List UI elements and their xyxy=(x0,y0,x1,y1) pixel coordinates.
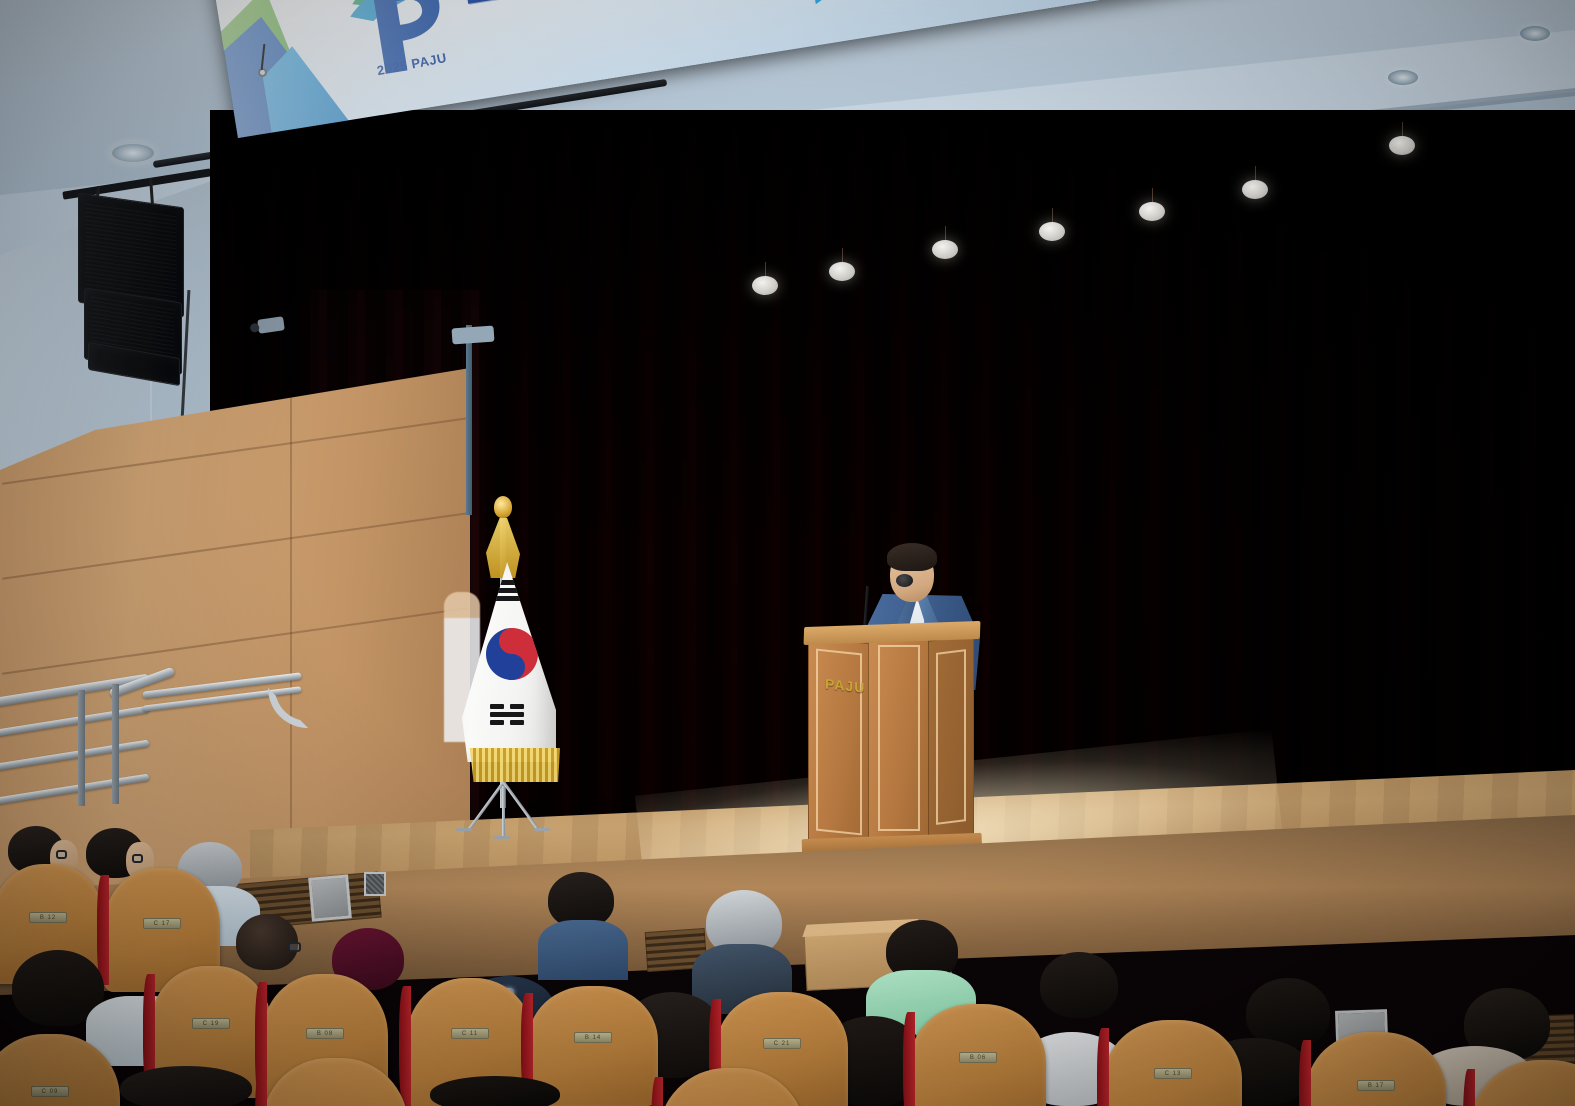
seat-number-plate: C 11 xyxy=(451,1028,489,1039)
downlight-rim xyxy=(110,142,156,164)
podium-inlay xyxy=(936,649,966,825)
audience-head xyxy=(120,1066,252,1106)
stage-lamp-icon xyxy=(829,262,855,281)
trigram-bar xyxy=(510,704,524,709)
seat-number-plate: C 21 xyxy=(763,1038,801,1049)
theater-seat[interactable]: B 17 xyxy=(1306,1032,1446,1106)
wall-seam xyxy=(2,607,468,674)
seat-number-plate: C 09 xyxy=(31,1086,69,1097)
audience-section: B 12 C 17 C 19 B 08 xyxy=(0,820,1575,1106)
seat-trim xyxy=(97,875,109,984)
seat-trim xyxy=(1299,1040,1311,1106)
microphone-head-icon xyxy=(896,574,913,587)
seat-trim xyxy=(1097,1028,1109,1106)
eyeglasses-icon xyxy=(288,942,301,952)
eyeglasses-icon xyxy=(132,854,143,863)
podium-inlay xyxy=(878,645,920,831)
seat-number-plate: B 14 xyxy=(574,1032,612,1043)
handrail-post xyxy=(112,684,119,804)
downlight-icon xyxy=(1520,26,1550,41)
theater-seat[interactable]: B 06 xyxy=(910,1004,1046,1106)
triangle-marker-left: ▶ xyxy=(812,0,833,6)
wall-seam xyxy=(2,512,468,579)
seat-number-plate: C 17 xyxy=(143,918,181,929)
seat-number-plate: B 06 xyxy=(959,1052,997,1063)
taeguk-symbol xyxy=(486,628,538,680)
theater-seat[interactable]: C 13 xyxy=(1104,1020,1242,1106)
flag-fringe xyxy=(464,748,560,782)
trigram-geon xyxy=(488,580,522,600)
seat-number-plate: C 13 xyxy=(1154,1068,1192,1079)
seat-trim xyxy=(255,1067,267,1106)
korean-flag-assembly xyxy=(438,500,568,840)
podium-right-face xyxy=(928,635,974,845)
trigram-bar xyxy=(488,596,522,601)
eyeglasses-icon xyxy=(56,850,67,859)
handrail-post xyxy=(78,690,85,806)
trigram-bar xyxy=(488,580,522,585)
trigram-bar xyxy=(488,588,522,593)
stage-lamp-icon xyxy=(1389,136,1415,155)
stage-lamp-icon xyxy=(932,240,958,259)
wall-seam xyxy=(290,370,292,840)
seat-trim xyxy=(651,1077,663,1106)
banner-datetime-row: ▶ 2025. 8. 28.(목) 15:00 xyxy=(811,0,1080,9)
stage-lamp-icon xyxy=(1039,222,1065,241)
trigram-bar xyxy=(490,712,524,717)
flag-finial xyxy=(494,496,512,518)
seat-number-plate: B 08 xyxy=(306,1028,344,1039)
flag-tassel xyxy=(486,518,520,578)
taeguk-lower-lobe xyxy=(499,654,525,680)
trigram-bar xyxy=(510,720,524,725)
podium-center-face xyxy=(868,632,930,850)
seat-number-plate: B 17 xyxy=(1357,1080,1395,1091)
downlight-icon xyxy=(1388,70,1418,85)
trigram-bar xyxy=(490,704,504,709)
paju-p-emblem-icon: 2025 PAJU xyxy=(330,0,469,85)
stage-lamp-icon xyxy=(752,276,778,295)
seat-trim xyxy=(903,1012,915,1106)
event-photo-scene: PAJU xyxy=(0,0,1575,1106)
banner-datetime: 2025. 8. 28.(목) 15:00 xyxy=(836,0,1080,3)
camera-pole xyxy=(466,325,472,515)
surveillance-camera-icon xyxy=(451,326,494,345)
taeguk-upper-lobe xyxy=(499,628,525,654)
audience-shoulders xyxy=(538,920,628,980)
stage-lamp-icon xyxy=(1242,180,1268,199)
seat-trim xyxy=(399,986,411,1106)
audience-head xyxy=(1040,952,1118,1018)
seat-number-plate: C 19 xyxy=(192,1018,230,1029)
seat-trim xyxy=(1463,1069,1475,1106)
speaker-hair xyxy=(887,543,937,571)
trigram-bar xyxy=(490,720,504,725)
stage-lamp-icon xyxy=(1139,202,1165,221)
seat-number-plate: B 12 xyxy=(29,912,67,923)
audience-head xyxy=(430,1076,560,1106)
trigram-gam xyxy=(490,704,524,724)
